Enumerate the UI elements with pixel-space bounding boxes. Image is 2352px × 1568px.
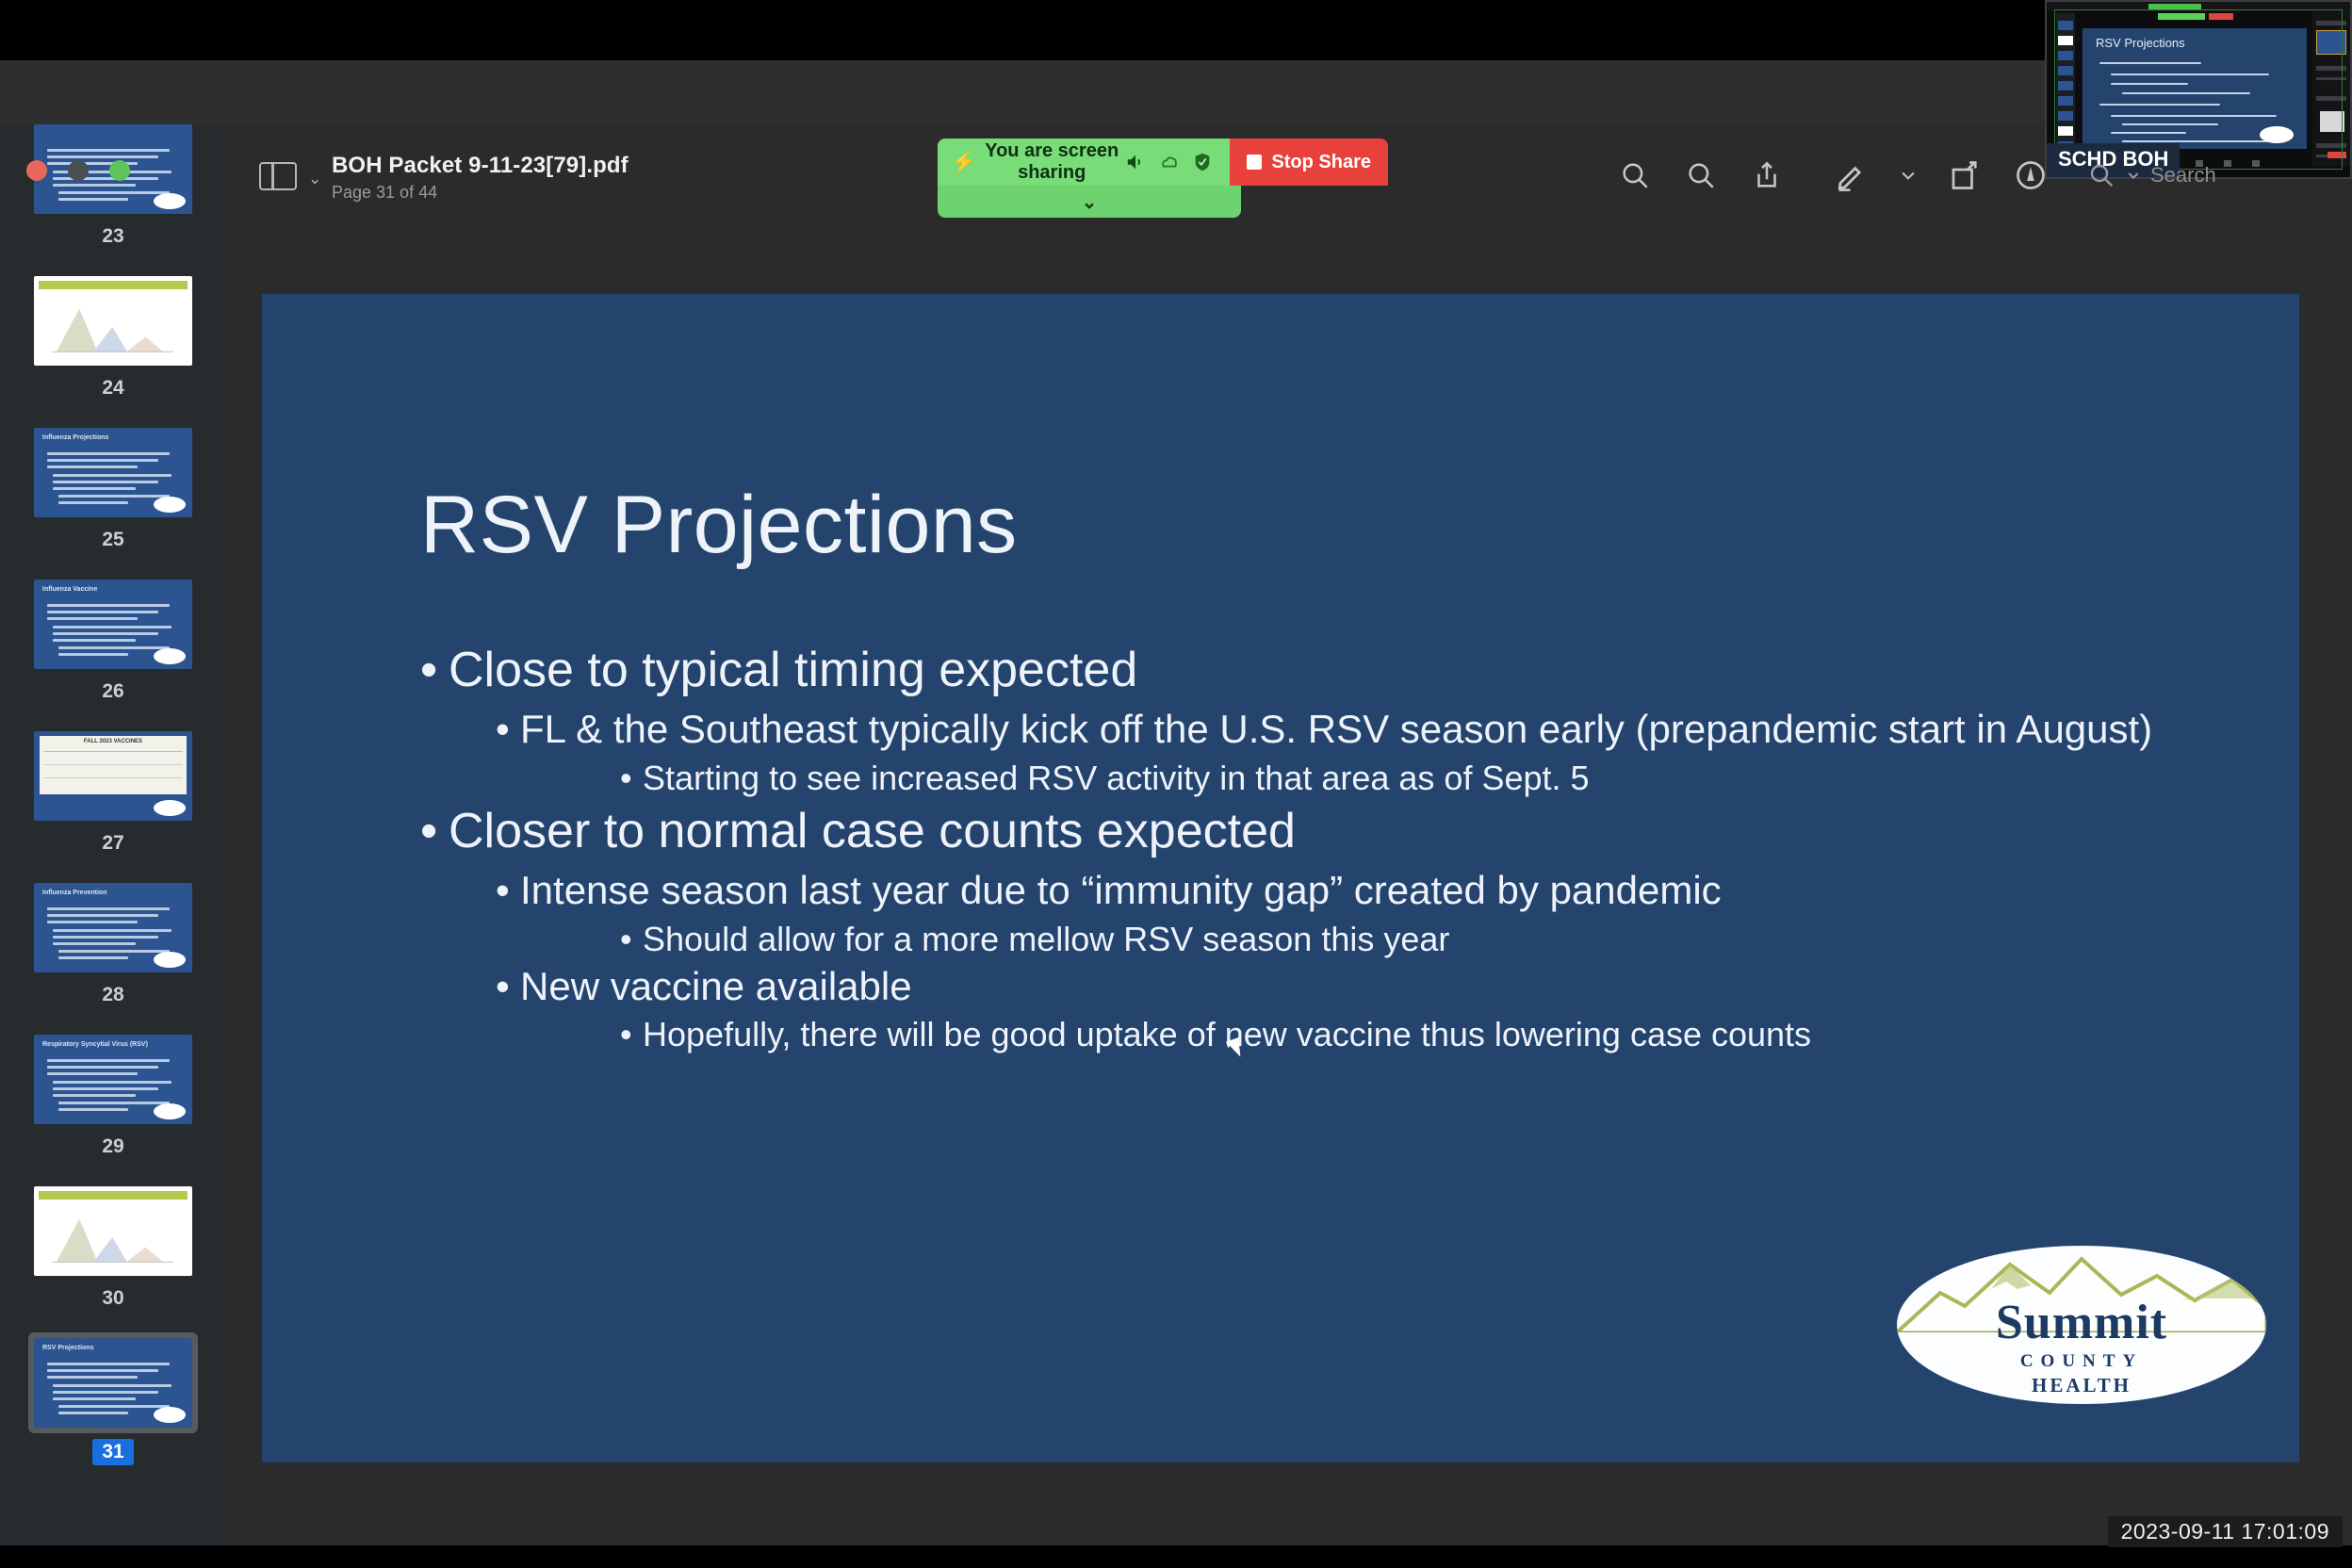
thumbnail-item[interactable]: Influenza Prevention28	[0, 883, 226, 1035]
pip-share-bar-mini-2	[2158, 13, 2205, 20]
bullet-level-2: •New vaccine available	[496, 963, 2262, 1010]
bullet-level-2: •FL & the Southeast typically kick off t…	[496, 706, 2262, 753]
thumbnail-page-number: 25	[102, 529, 123, 551]
bullet-text: Intense season last year due to “immunit…	[520, 868, 1722, 912]
search-icon	[2086, 160, 2116, 190]
thumbnail-page-number: 29	[102, 1135, 123, 1158]
mouse-cursor	[1226, 1039, 1236, 1049]
bullet-marker: •	[420, 802, 449, 861]
document-title: BOH Packet 9-11-23[79].pdf	[332, 153, 629, 179]
thumbnail-page-number: 30	[102, 1287, 123, 1310]
zoom-out-icon[interactable]	[1602, 151, 1668, 200]
thumbnail-item[interactable]: 23	[0, 124, 226, 276]
pdf-viewer-window: 2324Influenza Projections25Influenza Vac…	[0, 60, 2352, 1545]
bullet-level-3: •Hopefully, there will be good uptake of…	[620, 1014, 2262, 1054]
bullet-level-3: •Should allow for a more mellow RSV seas…	[620, 919, 2262, 959]
thumbnail-chart-image	[39, 281, 188, 361]
thumbnail-item[interactable]: FALL 2023 VACCINES27	[0, 731, 226, 883]
bullet-level-1: •Close to typical timing expected	[420, 641, 2262, 700]
sidebar-toggle-icon[interactable]	[259, 162, 297, 190]
thumbnail-item[interactable]: RSV Projections31	[0, 1338, 226, 1494]
bullet-level-2: •Intense season last year due to “immuni…	[496, 867, 2262, 914]
bullet-marker: •	[620, 758, 643, 798]
pdf-toolbar	[0, 60, 2352, 124]
zoom-in-icon[interactable]	[1668, 151, 1734, 200]
bullet-level-3: •Starting to see increased RSV activity …	[620, 758, 2262, 798]
thumbnail-item[interactable]: 30	[0, 1186, 226, 1338]
bullet-marker: •	[496, 963, 520, 1010]
search-field[interactable]: Search	[2086, 160, 2216, 190]
thumbnail-item[interactable]: 24	[0, 276, 226, 428]
bullet-marker: •	[496, 867, 520, 914]
slide-bullet-list: •Close to typical timing expected•FL & t…	[420, 641, 2262, 1059]
bullet-marker: •	[420, 641, 449, 700]
thumbnail-preview[interactable]: Influenza Prevention	[34, 883, 192, 972]
screen-share-status-text: You are screen sharing	[979, 140, 1124, 184]
thumbnail-preview[interactable]: FALL 2023 VACCINES	[34, 731, 192, 821]
thumbnail-item[interactable]: Influenza Vaccine26	[0, 580, 226, 731]
thumbnail-slide-title: Influenza Vaccine	[42, 586, 97, 593]
pip-share-bar-mini	[2148, 4, 2201, 9]
thumbnail-slide-title: Influenza Projections	[42, 434, 108, 441]
search-placeholder[interactable]: Search	[2150, 163, 2216, 188]
top-black-bar	[0, 0, 2352, 60]
stop-share-button[interactable]: Stop Share	[1230, 139, 1388, 186]
stop-share-label: Stop Share	[1271, 152, 1371, 173]
thumbnail-preview[interactable]: Respiratory Syncytial Virus (RSV)	[34, 1035, 192, 1124]
thumbnail-table-title: FALL 2023 VACCINES	[40, 739, 187, 744]
logo-health-text: HEALTH	[1897, 1374, 2266, 1397]
screen-root: 2324Influenza Projections25Influenza Vac…	[0, 0, 2352, 1568]
zoom-button[interactable]	[109, 160, 130, 181]
logo-county-text: COUNTY	[1897, 1351, 2266, 1372]
logo-summit-text: Summit	[1897, 1295, 2266, 1350]
bottom-black-bar	[0, 1545, 2352, 1568]
thumbnail-sidebar[interactable]: 2324Influenza Projections25Influenza Vac…	[0, 124, 226, 1545]
pip-leave-button[interactable]	[2327, 152, 2346, 158]
markup-pen-icon[interactable]	[1819, 151, 1885, 200]
stop-square-icon	[1247, 155, 1262, 170]
bullet-text: Close to typical timing expected	[449, 643, 1137, 697]
share-export-icon[interactable]	[1734, 151, 1800, 200]
speaker-icon[interactable]	[1124, 152, 1147, 172]
pip-participants-panel	[2312, 9, 2350, 166]
chevron-down-icon[interactable]: ⌄	[308, 170, 321, 188]
thumbnail-page-number: 27	[102, 832, 123, 855]
thumbnail-item[interactable]: Influenza Projections25	[0, 428, 226, 580]
thumbnail-preview[interactable]: Influenza Projections	[34, 428, 192, 517]
minimize-button[interactable]	[68, 160, 89, 181]
bullet-marker: •	[620, 1014, 643, 1054]
thumbnail-page-number: 26	[102, 680, 123, 703]
bullet-marker: •	[620, 919, 643, 959]
thumbnail-preview[interactable]: Influenza Vaccine	[34, 580, 192, 669]
page-indicator: Page 31 of 44	[332, 183, 437, 203]
pip-logo-mini	[2260, 126, 2294, 143]
bullet-marker: •	[496, 706, 520, 753]
pip-participant-avatar	[2320, 111, 2344, 132]
thumbnail-preview[interactable]	[34, 276, 192, 366]
screen-share-status: ⚡ You are screen sharing	[938, 139, 1230, 186]
markup-chevron-down-icon[interactable]	[1885, 151, 1932, 200]
toolbar-icon-group[interactable]: Search	[1602, 151, 2216, 200]
summit-county-health-logo: Summit COUNTY HEALTH	[1897, 1246, 2266, 1404]
rotate-share-icon[interactable]	[1932, 151, 1998, 200]
bullet-text: Hopefully, there will be good uptake of …	[643, 1015, 1811, 1053]
thumbnail-preview[interactable]	[34, 1186, 192, 1276]
thumbnail-slide-title: Influenza Prevention	[42, 890, 106, 896]
cloud-icon[interactable]	[1158, 152, 1181, 172]
thumbnail-slide-title: RSV Projections	[42, 1345, 93, 1351]
lightning-icon: ⚡	[951, 150, 979, 174]
timestamp-overlay: 2023-09-11 17:01:09	[2108, 1516, 2343, 1547]
pip-slide-title: RSV Projections	[2096, 36, 2185, 50]
annotate-circle-icon[interactable]	[1998, 151, 2064, 200]
thumbnail-page-number: 28	[102, 984, 123, 1006]
screen-share-bar[interactable]: ⚡ You are screen sharing	[938, 139, 1388, 218]
pip-sidebar-mini	[2056, 13, 2075, 158]
pip-stop-share-mini	[2209, 13, 2233, 20]
bullet-text: New vaccine available	[520, 964, 912, 1008]
bullet-level-1: •Closer to normal case counts expected	[420, 802, 2262, 861]
thumbnail-page-number: 24	[102, 377, 123, 400]
bullet-text: FL & the Southeast typically kick off th…	[520, 707, 2152, 751]
thumbnail-slide-title: Respiratory Syncytial Virus (RSV)	[42, 1041, 148, 1048]
bullet-text: Starting to see increased RSV activity i…	[643, 759, 1590, 797]
thumbnail-item[interactable]: Respiratory Syncytial Virus (RSV)29	[0, 1035, 226, 1186]
pip-slide-mini: RSV Projections	[2082, 28, 2307, 149]
thumbnail-page-number: 31	[92, 1439, 133, 1465]
share-expand-chevron[interactable]: ⌄	[938, 186, 1241, 218]
slide-title: RSV Projections	[420, 479, 1018, 572]
thumbnail-preview[interactable]: RSV Projections	[34, 1338, 192, 1428]
close-button[interactable]	[26, 160, 47, 181]
thumbnail-page-number: 23	[102, 225, 123, 248]
bullet-text: Should allow for a more mellow RSV seaso…	[643, 920, 1449, 958]
search-chevron-down-icon[interactable]	[2126, 168, 2141, 183]
bullet-text: Closer to normal case counts expected	[449, 804, 1296, 858]
thumbnail-chart-image	[39, 1191, 188, 1271]
window-controls[interactable]	[26, 160, 130, 181]
slide-canvas: RSV Projections •Close to typical timing…	[262, 294, 2299, 1462]
page-view-area[interactable]: RSV Projections •Close to typical timing…	[226, 124, 2352, 1545]
shield-icon[interactable]	[1192, 152, 1213, 172]
